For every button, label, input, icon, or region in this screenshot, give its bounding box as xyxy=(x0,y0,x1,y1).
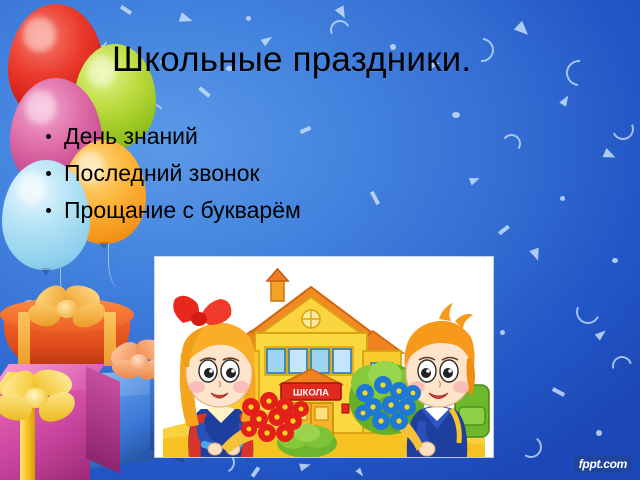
slide: Школьные праздники. День знаний Последни… xyxy=(0,0,640,480)
page-title: Школьные праздники. xyxy=(112,38,542,82)
bullet-dot-icon xyxy=(46,134,51,139)
balloon-string xyxy=(108,244,127,288)
school-clipart: ШКОЛА xyxy=(155,257,493,457)
list-item-label: Прощание с букварём xyxy=(64,197,301,223)
bullet-dot-icon xyxy=(46,171,51,176)
list-item-label: День знаний xyxy=(64,123,198,149)
list-item-label: Последний звонок xyxy=(64,160,260,186)
red-bow xyxy=(173,296,231,326)
list-item: Прощание с букварём xyxy=(38,192,458,229)
school-sign-text: ШКОЛА xyxy=(293,388,329,399)
list-item: Последний звонок xyxy=(38,155,458,192)
list-item: День знаний xyxy=(38,118,458,155)
bullet-dot-icon xyxy=(46,208,51,213)
gift-pink-square xyxy=(0,350,126,480)
bullet-list: День знаний Последний звонок Прощание с … xyxy=(38,118,458,229)
fppt-watermark: fppt.com xyxy=(574,456,632,473)
picture-panel: ШКОЛА xyxy=(155,257,493,457)
